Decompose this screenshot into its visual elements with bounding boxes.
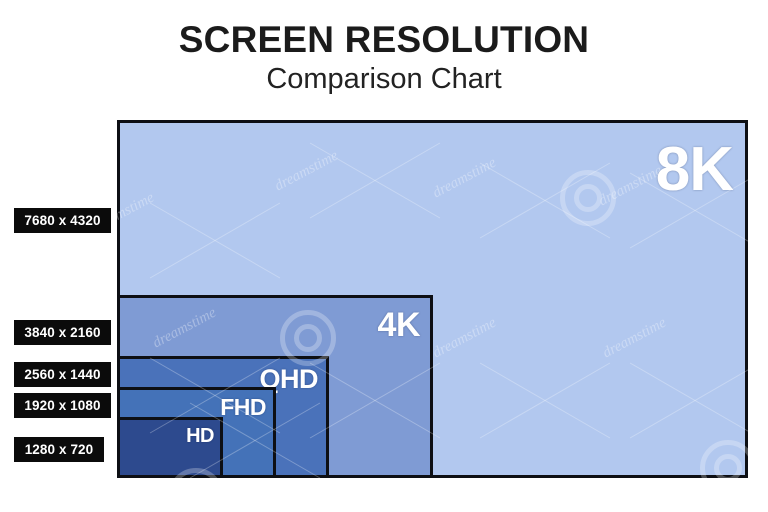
dimension-tag-hd: 1280 x 720 <box>14 437 104 462</box>
resolution-label-fhd: FHD <box>220 396 266 419</box>
dimension-tag-4k: 3840 x 2160 <box>14 320 111 345</box>
chart-header: SCREEN RESOLUTION Comparison Chart <box>0 20 768 96</box>
page-title: SCREEN RESOLUTION <box>0 20 768 60</box>
chart-canvas: SCREEN RESOLUTION Comparison Chart 8K 4K… <box>0 0 768 512</box>
dimension-tag-qhd: 2560 x 1440 <box>14 362 111 387</box>
page-subtitle: Comparison Chart <box>0 62 768 96</box>
resolution-box-hd: HD <box>117 417 223 478</box>
resolution-label-4k: 4K <box>378 308 420 342</box>
dimension-tag-fhd: 1920 x 1080 <box>14 393 111 418</box>
dimension-tag-8k: 7680 x 4320 <box>14 208 111 233</box>
resolution-label-hd: HD <box>186 426 214 446</box>
resolution-label-8k: 8K <box>656 139 733 201</box>
